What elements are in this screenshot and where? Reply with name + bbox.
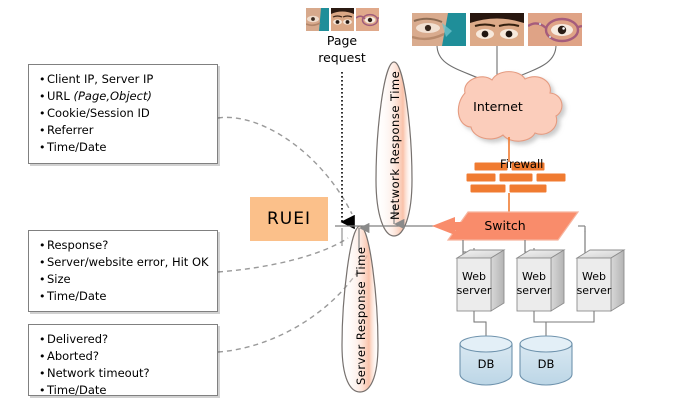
- list-item: Referrer: [39, 122, 209, 139]
- response-attribute-list: Response? Server/website error, Hit OK S…: [39, 237, 209, 305]
- web-server-3-label: Web server: [567, 270, 621, 298]
- list-item: Client IP, Server IP: [39, 71, 209, 88]
- list-item: Time/Date: [39, 139, 209, 156]
- list-item: Response?: [39, 237, 209, 254]
- firewall-label: Firewall: [500, 157, 543, 171]
- list-item: Time/Date: [39, 382, 209, 399]
- info-box-delivery-attributes: Delivered? Aborted? Network timeout? Tim…: [28, 324, 218, 396]
- diagram-canvas: Client IP, Server IP URL (Page,Object) C…: [0, 0, 675, 400]
- list-item: Server/website error, Hit OK: [39, 254, 209, 271]
- web-server-2-line1: Web: [507, 270, 561, 284]
- list-item: Delivered?: [39, 331, 209, 348]
- user-photo-eye-b: [470, 13, 524, 46]
- list-item: Time/Date: [39, 288, 209, 305]
- user-photo-eye-a: [306, 8, 329, 31]
- info-box-request-attributes: Client IP, Server IP URL (Page,Object) C…: [28, 64, 218, 164]
- database-2-label: DB: [524, 357, 568, 371]
- web-server-3-line2: server: [567, 284, 621, 298]
- network-response-time-label: Network Response Time: [388, 80, 402, 220]
- web-server-2-label: Web server: [507, 270, 561, 298]
- page-request-line1: Page: [306, 32, 378, 49]
- page-request-label: Page request: [306, 32, 378, 66]
- user-photo-eye-c: [528, 13, 582, 46]
- web-server-2-line2: server: [507, 284, 561, 298]
- list-item: Cookie/Session ID: [39, 105, 209, 122]
- web-server-3-line1: Web: [567, 270, 621, 284]
- list-item: Size: [39, 271, 209, 288]
- server-db-links: [474, 311, 594, 337]
- ruei-box: RUEI: [250, 197, 328, 241]
- internet-cloud-label: Internet: [455, 99, 541, 114]
- request-attribute-list: Client IP, Server IP URL (Page,Object) C…: [39, 71, 209, 156]
- list-item: Aborted?: [39, 348, 209, 365]
- web-server-1-line1: Web: [447, 270, 501, 284]
- web-server-1-label: Web server: [447, 270, 501, 298]
- page-request-line2: request: [306, 49, 378, 66]
- delivery-attribute-list: Delivered? Aborted? Network timeout? Tim…: [39, 331, 209, 399]
- list-item: Network timeout?: [39, 365, 209, 382]
- ruei-label: RUEI: [267, 209, 311, 229]
- database-1-label: DB: [464, 357, 508, 371]
- list-item: URL (Page,Object): [39, 88, 209, 105]
- user-photo-eye-b: [331, 8, 354, 31]
- server-response-time-label: Server Response Time: [354, 245, 368, 385]
- user-photo-eye-c: [356, 8, 379, 31]
- web-server-1-line2: server: [447, 284, 501, 298]
- info-box-response-attributes: Response? Server/website error, Hit OK S…: [28, 230, 218, 312]
- connector-response: [218, 238, 348, 272]
- switch-label: Switch: [475, 218, 535, 233]
- user-photo-eye-a: [412, 13, 466, 46]
